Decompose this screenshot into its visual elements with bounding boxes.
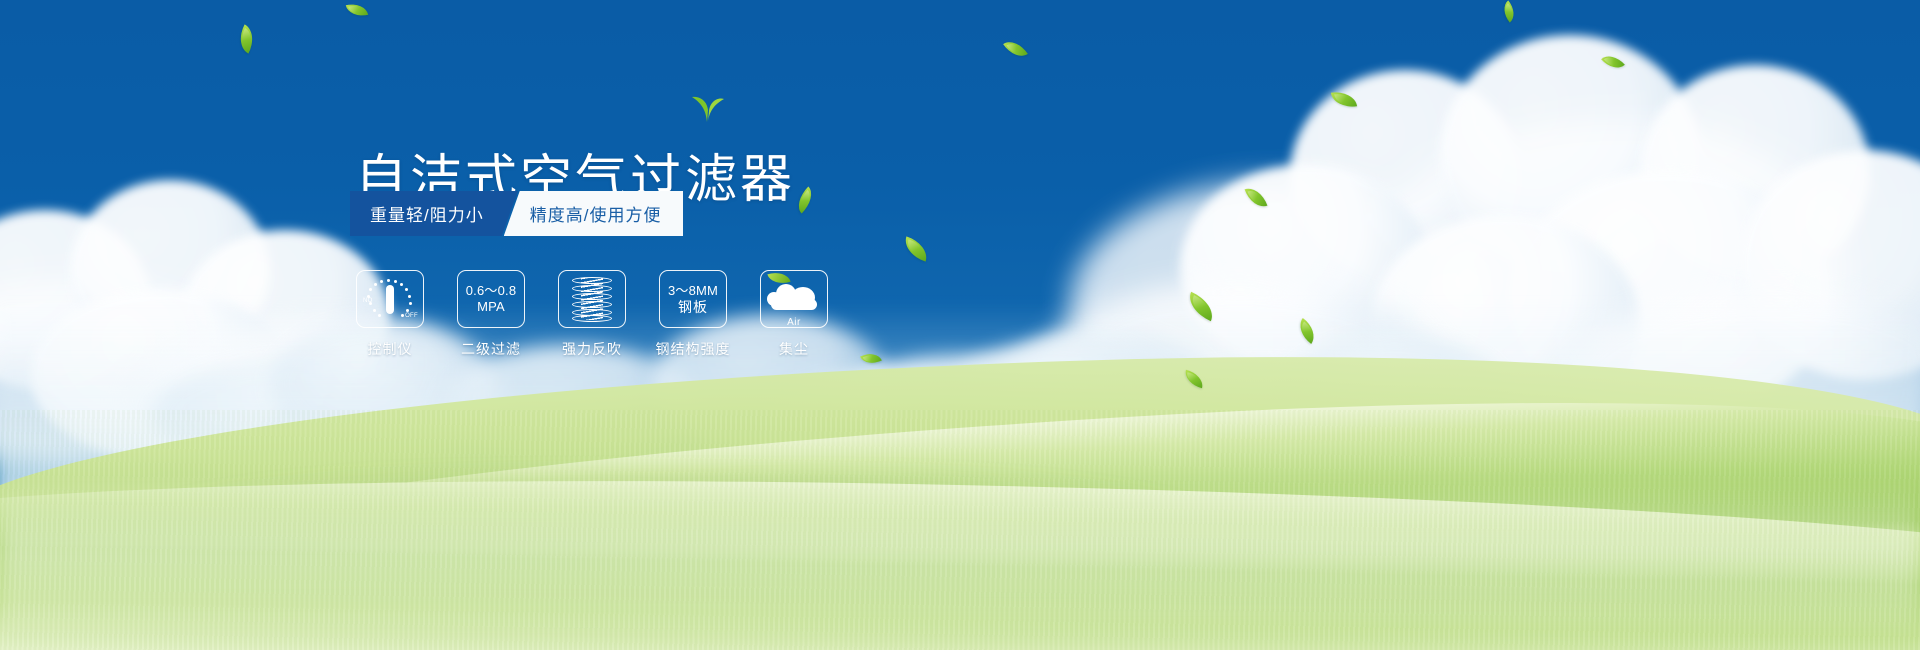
feature-item-controller[interactable]: NO OFF 控制仪 (356, 270, 424, 359)
feature-label: 强力反吹 (562, 339, 622, 359)
feature-item-backblow[interactable]: 强力反吹 (558, 270, 626, 359)
feature-list: NO OFF 控制仪 0.6～0.8 MPA 二级过滤 (356, 270, 828, 359)
feature-icon-box: 3～8MM 钢板 (659, 270, 727, 328)
gauge-label-off: OFF (405, 313, 418, 319)
feature-icon-box: NO OFF (356, 270, 424, 328)
air-cloud-icon: Air (767, 280, 821, 314)
feature-icon-box (558, 270, 626, 328)
feature-label: 二级过滤 (461, 339, 521, 359)
steel-spec-line1: 3～8MM (668, 283, 718, 299)
title-sprout-icon (686, 92, 728, 122)
pressure-value-line1: 0.6～0.8 (466, 283, 517, 299)
feature-icon-box: Air (760, 270, 828, 328)
gauge-icon: NO OFF (362, 276, 418, 322)
feature-item-steel-strength[interactable]: 3～8MM 钢板 钢结构强度 (659, 270, 727, 359)
feature-item-dust-collection[interactable]: Air 集尘 (760, 270, 828, 359)
filter-coil-icon (572, 276, 612, 322)
banner-canvas: 自洁式空气过滤器 重量轻/阻力小 精度高/使用方便 (0, 0, 1920, 650)
badge-label: 精度高/使用方便 (530, 201, 662, 226)
gauge-label-on: NO (363, 298, 373, 304)
banner-content: 自洁式空气过滤器 重量轻/阻力小 精度高/使用方便 (0, 0, 1920, 650)
tagline-badges: 重量轻/阻力小 精度高/使用方便 (350, 191, 683, 236)
badge-label: 重量轻/阻力小 (370, 201, 484, 226)
feature-label: 控制仪 (368, 339, 413, 359)
feature-item-filtration[interactable]: 0.6～0.8 MPA 二级过滤 (457, 270, 525, 359)
feature-icon-box: 0.6～0.8 MPA (457, 270, 525, 328)
badge-weight-resistance[interactable]: 重量轻/阻力小 (350, 191, 518, 236)
pressure-value-line2: MPA (477, 299, 505, 315)
feature-label: 钢结构强度 (656, 339, 731, 359)
feature-label: 集尘 (779, 339, 809, 359)
steel-spec-line2: 钢板 (678, 299, 708, 315)
air-label: Air (767, 317, 821, 328)
badge-precision-convenience[interactable]: 精度高/使用方便 (504, 191, 684, 236)
